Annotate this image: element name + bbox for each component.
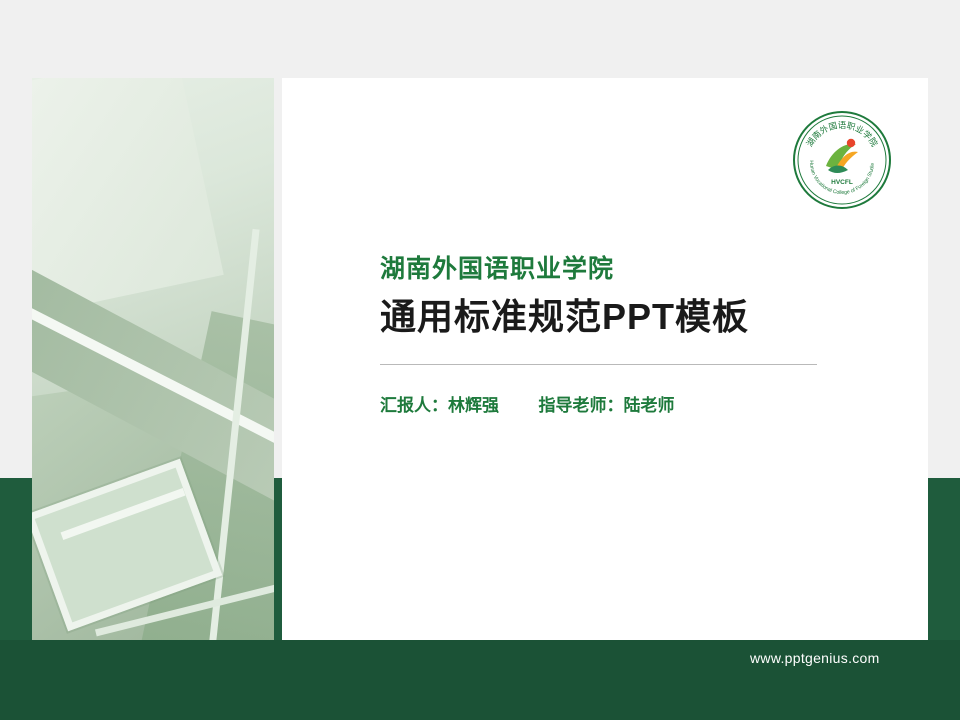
photo-shape-1 bbox=[32, 78, 224, 316]
presentation-slide: 湖南外国语职业学院 Hunan Vocational College of Fo… bbox=[0, 0, 960, 720]
school-name: 湖南外国语职业学院 bbox=[380, 252, 820, 286]
svg-text:HVCFL: HVCFL bbox=[831, 179, 853, 186]
footer-url[interactable]: www.pptgenius.com bbox=[750, 650, 880, 666]
cover-photo bbox=[32, 78, 274, 640]
title-block: 湖南外国语职业学院 通用标准规范PPT模板 汇报人：林辉强 指导老师：陆老师 bbox=[380, 252, 820, 416]
meta-row: 汇报人：林辉强 指导老师：陆老师 bbox=[380, 391, 820, 416]
presenter-label: 汇报人：林辉强 bbox=[380, 396, 499, 415]
cover-photo-image bbox=[32, 78, 274, 640]
page-title: 通用标准规范PPT模板 bbox=[380, 292, 820, 342]
college-logo: 湖南外国语职业学院 Hunan Vocational College of Fo… bbox=[790, 108, 894, 212]
advisor-label: 指导老师：陆老师 bbox=[538, 396, 674, 415]
title-divider bbox=[380, 364, 817, 365]
